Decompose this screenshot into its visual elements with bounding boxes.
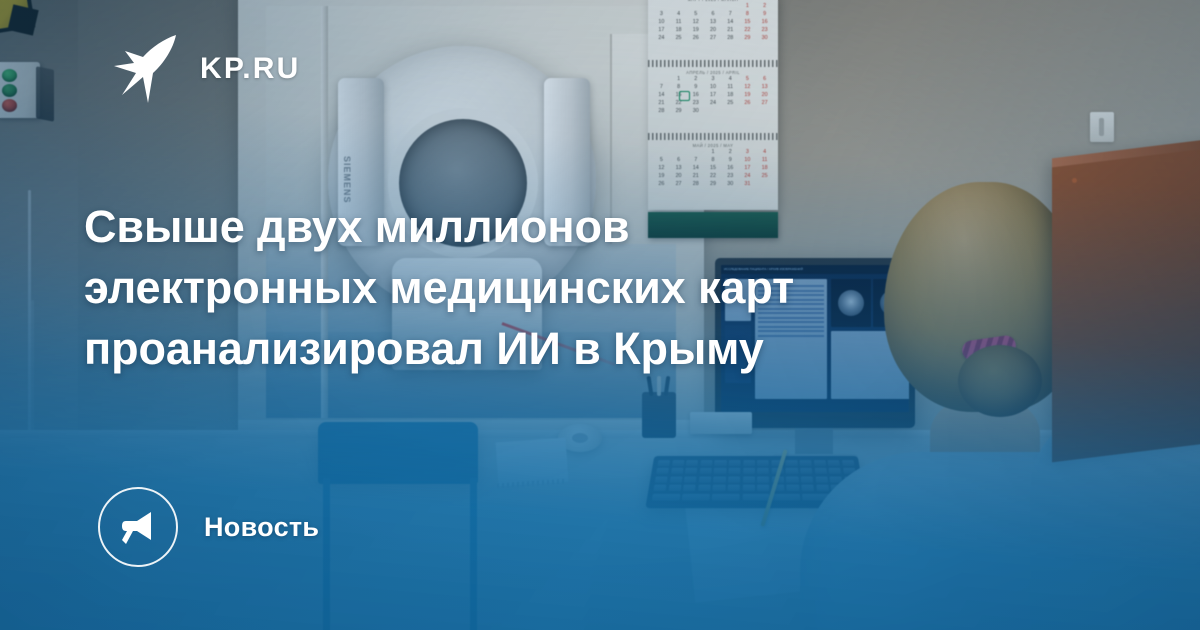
headline-line-2: электронных медицинских карт [84, 257, 1024, 318]
page-title: Свыше двух миллионов электронных медицин… [84, 196, 1024, 379]
status-badge-label: Новость [204, 512, 319, 543]
brand-name-text: KP.RU [200, 54, 300, 84]
swallow-bird-icon [112, 33, 178, 105]
megaphone-icon [118, 507, 158, 547]
news-card: SIEMENS МАРТ / 2025 / MARCH 0000012 3456… [0, 0, 1200, 630]
headline-line-1: Свыше двух миллионов [84, 196, 1024, 257]
megaphone-icon-circle [98, 487, 178, 567]
status-badge[interactable]: Новость [98, 487, 319, 567]
brand-logo[interactable]: KP.RU [112, 33, 300, 105]
headline-line-3: проанализировал ИИ в Крыму [84, 318, 1024, 379]
